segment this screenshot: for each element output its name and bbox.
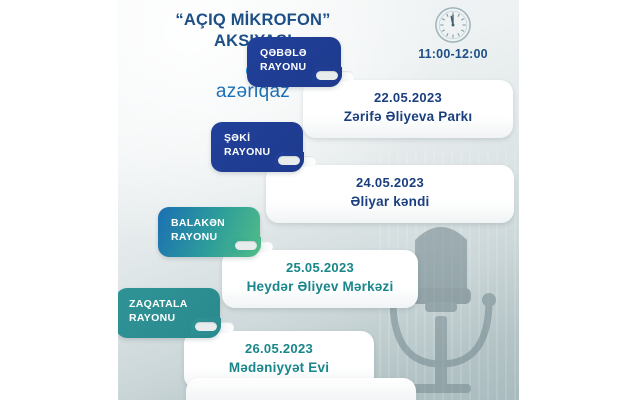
district-badge-seki[interactable]: ŞƏKİ RAYONU	[211, 122, 303, 172]
title-line-1: “AÇIQ MİKROFON”	[118, 10, 388, 31]
district-line-1: BALAKƏN	[171, 216, 260, 230]
screenshot-canvas: “AÇIQ MİKROFON” AKSIYASI azəriqaz	[0, 0, 637, 400]
clock-icon	[393, 6, 513, 44]
event-date: 22.05.2023	[303, 89, 513, 107]
district-badge-qebele[interactable]: QƏBƏLƏ RAYONU	[247, 37, 341, 87]
event-venue: Əliyar kəndi	[266, 192, 514, 212]
district-badge-balaken[interactable]: BALAKƏN RAYONU	[158, 207, 260, 257]
event-venue: Zərifə Əliyeva Parkı	[303, 107, 513, 127]
badge-notch	[274, 152, 304, 169]
badge-notch	[231, 237, 261, 254]
event-card-balaken[interactable]: 25.05.2023 Heydər Əliyev Mərkəzi	[222, 250, 418, 308]
district-line-1: ŞƏKİ	[224, 131, 303, 145]
badge-notch	[312, 67, 342, 84]
schedule-time: 11:00-12:00	[393, 47, 513, 61]
event-date: 25.05.2023	[222, 259, 418, 277]
event-card-partial	[186, 378, 416, 400]
event-date: 26.05.2023	[184, 340, 374, 358]
event-venue: Mədəniyyət Evi	[184, 358, 374, 378]
district-badge-zaqatala[interactable]: ZAQATALA RAYONU	[118, 288, 220, 338]
event-card-seki[interactable]: 24.05.2023 Əliyar kəndi	[266, 165, 514, 223]
event-venue: Heydər Əliyev Mərkəzi	[222, 277, 418, 297]
event-card-qebele[interactable]: 22.05.2023 Zərifə Əliyeva Parkı	[303, 80, 513, 138]
event-date: 24.05.2023	[266, 174, 514, 192]
event-poster: “AÇIQ MİKROFON” AKSIYASI azəriqaz	[118, 0, 519, 400]
district-line-1: ZAQATALA	[129, 297, 220, 311]
district-line-1: QƏBƏLƏ	[260, 46, 341, 60]
schedule-time-block: 11:00-12:00	[393, 6, 513, 61]
badge-notch	[191, 318, 221, 335]
